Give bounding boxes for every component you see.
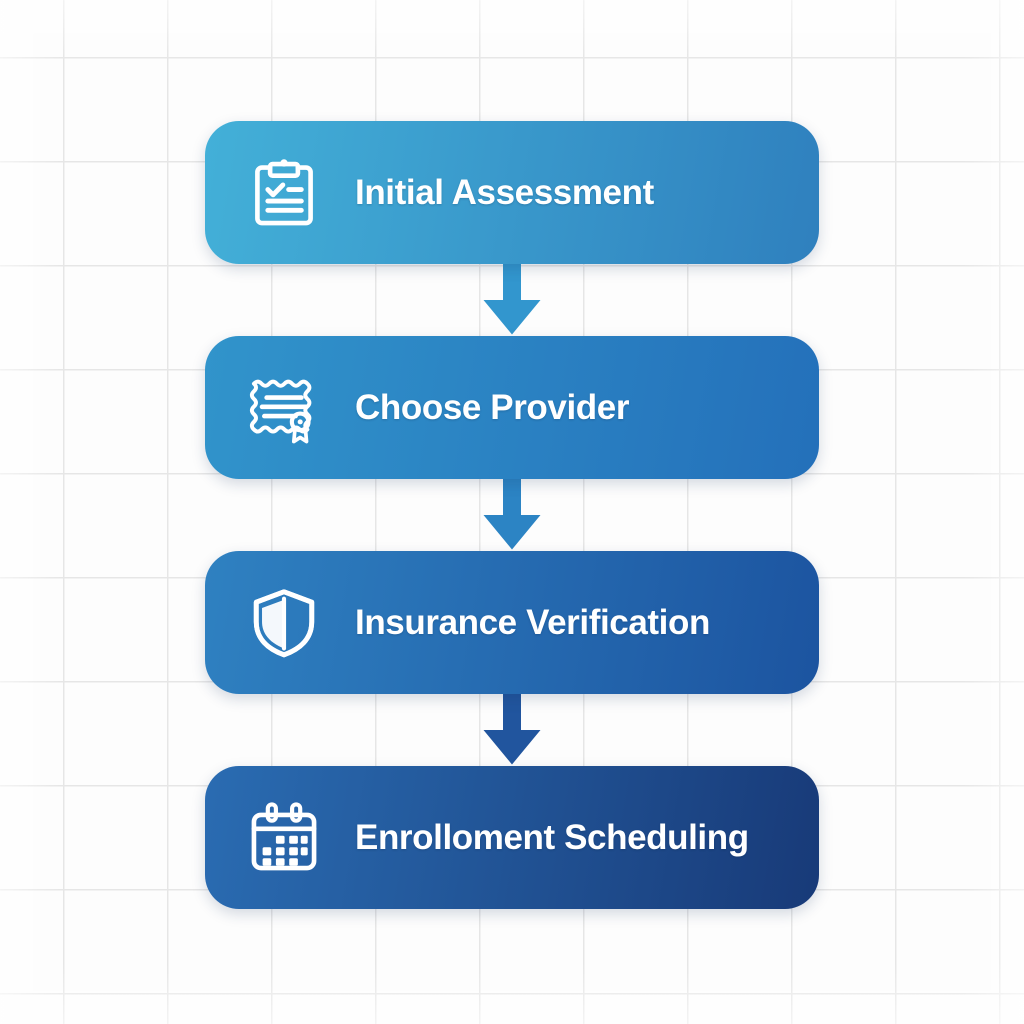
flow-node-initial-assessment[interactable]: Initial Assessment xyxy=(205,121,819,264)
shield-icon xyxy=(247,586,321,660)
flowchart: Initial Assessment Choose Provider xyxy=(0,0,1024,1024)
flow-node-enrollment-scheduling[interactable]: Enrolloment Scheduling xyxy=(205,766,819,909)
connector-arrow-down xyxy=(479,264,545,336)
flow-node-label: Choose Provider xyxy=(355,388,629,428)
flow-node-choose-provider[interactable]: Choose Provider xyxy=(205,336,819,479)
certificate-icon xyxy=(247,371,321,445)
flow-node-insurance-verification[interactable]: Insurance Verification xyxy=(205,551,819,694)
connector-arrow-down xyxy=(479,694,545,766)
clipboard-check-icon xyxy=(247,156,321,230)
flow-node-label: Insurance Verification xyxy=(355,603,710,643)
flow-node-label: Enrolloment Scheduling xyxy=(355,818,749,858)
flow-node-label: Initial Assessment xyxy=(355,173,654,213)
calendar-icon xyxy=(247,801,321,875)
connector-arrow-down xyxy=(479,479,545,551)
